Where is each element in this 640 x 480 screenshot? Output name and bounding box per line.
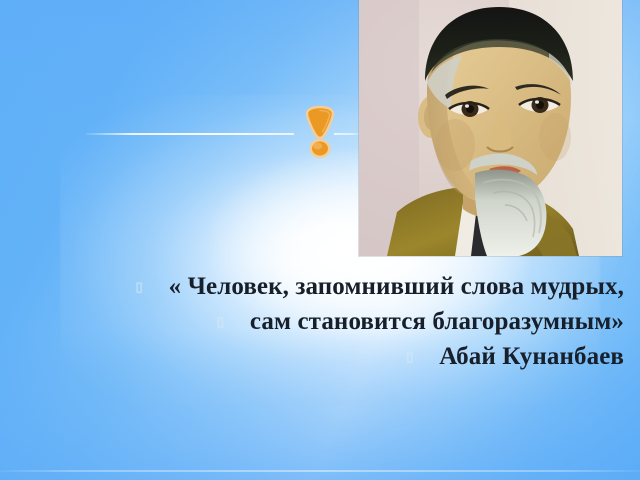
quote-attribution: ▯ Абай Кунанбаев [0, 342, 640, 377]
quote-line-text: сам становится благоразумным» [250, 307, 624, 337]
quote-block: ▯ « Человек, запомнивший слова мудрых, ▯… [0, 272, 640, 377]
slide-canvas: ▯ « Человек, запомнивший слова мудрых, ▯… [0, 0, 640, 480]
quote-line: ▯ сам становится благоразумным» [0, 307, 640, 342]
portrait-image [359, 0, 622, 256]
bullet-icon: ▯ [217, 316, 224, 329]
quote-author-name: Абай Кунанбаев [439, 342, 624, 372]
exclamation-mark-icon [300, 104, 340, 160]
background-bottom-rule [0, 470, 640, 472]
quote-line: ▯ « Человек, запомнивший слова мудрых, [0, 272, 640, 307]
bullet-icon: ▯ [135, 281, 142, 294]
divider-line-left [86, 133, 294, 135]
bullet-icon: ▯ [406, 351, 413, 364]
quote-line-text: « Человек, запомнивший слова мудрых, [169, 272, 624, 302]
